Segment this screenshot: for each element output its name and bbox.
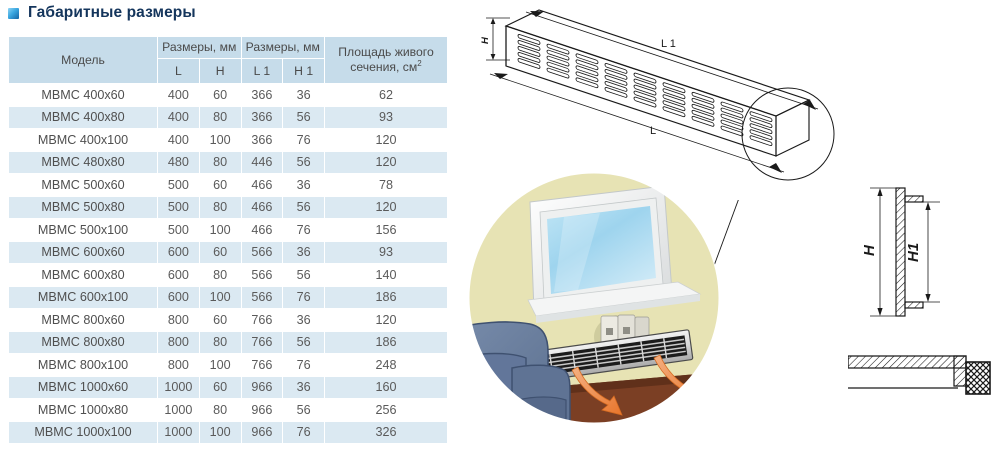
table-row: МВМС 1000x6010006096636160 — [9, 377, 447, 399]
table-row: МВМС 500x10050010046676156 — [9, 219, 447, 241]
cell-h: 60 — [200, 242, 241, 264]
cell-h: 80 — [200, 152, 241, 174]
cell-h1: 76 — [283, 422, 324, 444]
cell-l1: 366 — [242, 107, 283, 129]
cell-l: 1000 — [158, 377, 199, 399]
cell-l1: 366 — [242, 129, 283, 151]
cell-h: 80 — [200, 399, 241, 421]
cell-area: 156 — [325, 219, 447, 241]
cell-h1: 56 — [283, 197, 324, 219]
cell-model: МВМС 600x80 — [9, 264, 157, 286]
cell-model: МВМС 1000x100 — [9, 422, 157, 444]
cell-h1: 36 — [283, 377, 324, 399]
cell-l1: 966 — [242, 422, 283, 444]
table-row: МВМС 1000x100100010096676326 — [9, 422, 447, 444]
room-installation-illustration — [468, 172, 720, 424]
cell-area: 326 — [325, 422, 447, 444]
detail-callout-circle — [742, 88, 834, 180]
table-row: МВМС 800x10080010076676248 — [9, 354, 447, 376]
column-header-l1: L 1 — [242, 59, 283, 83]
cell-l1: 466 — [242, 197, 283, 219]
column-header-h: H — [200, 59, 241, 83]
cell-h: 60 — [200, 174, 241, 196]
cell-h: 100 — [200, 129, 241, 151]
cell-l: 1000 — [158, 399, 199, 421]
cell-h1: 56 — [283, 152, 324, 174]
cell-h: 60 — [200, 309, 241, 331]
cell-h1: 76 — [283, 219, 324, 241]
cell-model: МВМС 400x100 — [9, 129, 157, 151]
cell-h1: 56 — [283, 264, 324, 286]
table-row: МВМС 480x804808044656120 — [9, 152, 447, 174]
cell-area: 93 — [325, 242, 447, 264]
blue-square-bullet-icon — [8, 8, 19, 19]
cell-area: 120 — [325, 309, 447, 331]
cell-h: 100 — [200, 422, 241, 444]
cell-area: 256 — [325, 399, 447, 421]
cell-h1: 76 — [283, 287, 324, 309]
cell-area: 120 — [325, 152, 447, 174]
cell-l1: 766 — [242, 332, 283, 354]
cell-area: 120 — [325, 129, 447, 151]
table-row: МВМС 400x10040010036676120 — [9, 129, 447, 151]
cell-area: 62 — [325, 84, 447, 106]
cell-l1: 466 — [242, 174, 283, 196]
page-title: Габаритные размеры — [28, 4, 196, 22]
cell-model: МВМС 1000x80 — [9, 399, 157, 421]
cell-model: МВМС 500x80 — [9, 197, 157, 219]
table-header-row-1: Модель Размеры, мм Размеры, мм Площадь ж… — [9, 37, 447, 58]
cell-l1: 566 — [242, 264, 283, 286]
table-row: МВМС 600x10060010056676186 — [9, 287, 447, 309]
cell-l1: 766 — [242, 309, 283, 331]
cell-l: 600 — [158, 287, 199, 309]
cell-area: 140 — [325, 264, 447, 286]
table-row: МВМС 600x806008056656140 — [9, 264, 447, 286]
table-body: МВМС 400x60400603663662МВМС 400x80400803… — [9, 84, 447, 443]
section-header: Габаритные размеры — [8, 4, 196, 22]
cell-area: 120 — [325, 197, 447, 219]
cell-l1: 966 — [242, 399, 283, 421]
cell-model: МВМС 600x100 — [9, 287, 157, 309]
iso-label-l1: L 1 — [661, 38, 676, 50]
cell-h: 80 — [200, 332, 241, 354]
table-row: МВМС 600x60600605663693 — [9, 242, 447, 264]
table-row: МВМС 400x60400603663662 — [9, 84, 447, 106]
column-header-group-outer: Размеры, мм — [158, 37, 241, 58]
cell-l: 800 — [158, 309, 199, 331]
cell-h: 100 — [200, 354, 241, 376]
cell-l: 500 — [158, 197, 199, 219]
cell-l1: 766 — [242, 354, 283, 376]
cell-model: МВМС 800x100 — [9, 354, 157, 376]
cell-h1: 36 — [283, 174, 324, 196]
table-row: МВМС 800x608006076636120 — [9, 309, 447, 331]
cross-section-drawing: H H1 — [848, 176, 1001, 326]
cell-h: 80 — [200, 197, 241, 219]
cell-area: 160 — [325, 377, 447, 399]
table-row: МВМС 1000x8010008096656256 — [9, 399, 447, 421]
cell-h: 100 — [200, 219, 241, 241]
section-label-h: H — [861, 244, 878, 256]
cell-l: 500 — [158, 219, 199, 241]
cell-h1: 56 — [283, 332, 324, 354]
cell-model: МВМС 800x60 — [9, 309, 157, 331]
cell-area: 78 — [325, 174, 447, 196]
column-header-h1: H 1 — [283, 59, 324, 83]
column-header-area-superscript: 2 — [417, 59, 421, 68]
cell-l: 400 — [158, 107, 199, 129]
column-header-area-line2: сечения, см — [350, 61, 417, 75]
column-header-model: Модель — [9, 37, 157, 83]
cell-area: 186 — [325, 287, 447, 309]
iso-label-h: H — [480, 36, 491, 44]
cell-h: 60 — [200, 377, 241, 399]
cell-l: 800 — [158, 332, 199, 354]
cell-model: МВМС 480x80 — [9, 152, 157, 174]
cell-model: МВМС 600x60 — [9, 242, 157, 264]
plan-section-drawing — [848, 338, 1001, 414]
cell-l1: 566 — [242, 242, 283, 264]
cell-l1: 466 — [242, 219, 283, 241]
table-header: Модель Размеры, мм Размеры, мм Площадь ж… — [9, 37, 447, 83]
cell-area: 186 — [325, 332, 447, 354]
column-header-group-inner: Размеры, мм — [242, 37, 325, 58]
cell-l: 480 — [158, 152, 199, 174]
table-row: МВМС 500x60500604663678 — [9, 174, 447, 196]
cell-model: МВМС 1000x60 — [9, 377, 157, 399]
iso-label-l: L — [650, 125, 656, 137]
dimensions-table: Модель Размеры, мм Размеры, мм Площадь ж… — [8, 36, 448, 444]
cell-l: 600 — [158, 242, 199, 264]
cell-h1: 56 — [283, 107, 324, 129]
cell-l: 500 — [158, 174, 199, 196]
cell-h1: 76 — [283, 354, 324, 376]
table-row: МВМС 800x808008076656186 — [9, 332, 447, 354]
cell-h: 80 — [200, 264, 241, 286]
cell-l: 800 — [158, 354, 199, 376]
cell-h1: 76 — [283, 129, 324, 151]
cell-h: 80 — [200, 107, 241, 129]
column-header-area-line1: Площадь живого — [338, 45, 433, 59]
cell-area: 93 — [325, 107, 447, 129]
cell-l: 600 — [158, 264, 199, 286]
detail-leader-line — [700, 200, 870, 360]
cell-model: МВМС 500x100 — [9, 219, 157, 241]
cell-h1: 56 — [283, 399, 324, 421]
cell-h1: 36 — [283, 242, 324, 264]
cell-h1: 36 — [283, 309, 324, 331]
cell-l1: 446 — [242, 152, 283, 174]
table-row: МВМС 400x80400803665693 — [9, 107, 447, 129]
cell-h: 60 — [200, 84, 241, 106]
cell-area: 248 — [325, 354, 447, 376]
column-header-l: L — [158, 59, 199, 83]
cell-model: МВМС 400x60 — [9, 84, 157, 106]
cell-l: 1000 — [158, 422, 199, 444]
cell-h1: 36 — [283, 84, 324, 106]
cell-model: МВМС 400x80 — [9, 107, 157, 129]
cell-model: МВМС 800x80 — [9, 332, 157, 354]
cell-l1: 366 — [242, 84, 283, 106]
section-label-h1: H1 — [905, 243, 922, 262]
cell-l1: 566 — [242, 287, 283, 309]
cell-model: МВМС 500x60 — [9, 174, 157, 196]
column-header-area: Площадь живого сечения, см2 — [325, 37, 447, 83]
cell-l1: 966 — [242, 377, 283, 399]
cell-h: 100 — [200, 287, 241, 309]
table-row: МВМС 500x805008046656120 — [9, 197, 447, 219]
cell-l: 400 — [158, 129, 199, 151]
cell-l: 400 — [158, 84, 199, 106]
